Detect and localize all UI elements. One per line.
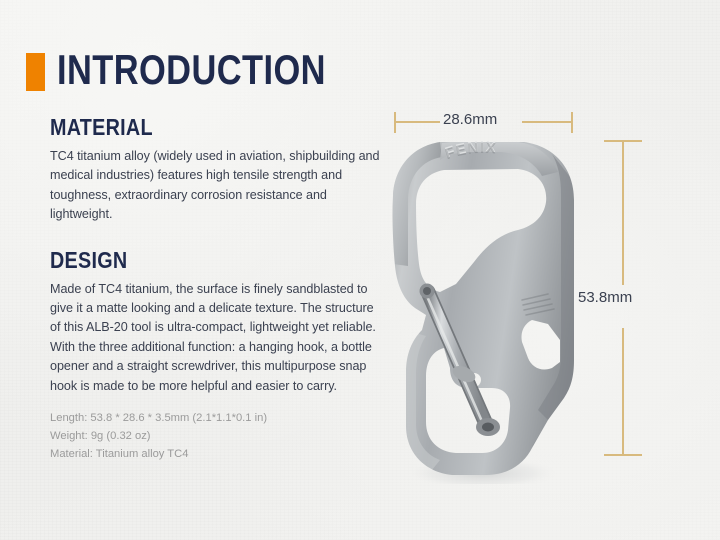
dim-line-right-lower bbox=[622, 328, 624, 456]
section-heading-material: MATERIAL bbox=[50, 112, 334, 142]
section-body-design: Made of TC4 titanium, the surface is fin… bbox=[50, 280, 380, 396]
dim-line-top-left bbox=[394, 121, 440, 123]
spec-length: Length: 53.8 * 28.6 * 3.5mm (2.1*1.1*0.1… bbox=[50, 409, 380, 427]
spec-weight: Weight: 9g (0.32 oz) bbox=[50, 427, 380, 445]
section-heading-design: DESIGN bbox=[50, 245, 334, 275]
dimension-label-width: 28.6mm bbox=[443, 110, 497, 130]
dim-line-top-right bbox=[522, 121, 573, 123]
orange-accent-bar bbox=[26, 53, 45, 91]
spec-material: Material: Titanium alloy TC4 bbox=[50, 445, 380, 463]
product-image-carabiner: FENIX FENIX bbox=[382, 134, 592, 484]
dim-line-right-upper bbox=[622, 140, 624, 285]
material-section: MATERIAL TC4 titanium alloy (widely used… bbox=[50, 112, 380, 225]
content-column: MATERIAL TC4 titanium alloy (widely used… bbox=[50, 112, 380, 396]
page-title: INTRODUCTION bbox=[57, 44, 326, 96]
specifications-block: Length: 53.8 * 28.6 * 3.5mm (2.1*1.1*0.1… bbox=[50, 409, 380, 463]
section-body-material: TC4 titanium alloy (widely used in aviat… bbox=[50, 147, 380, 225]
design-section: DESIGN Made of TC4 titanium, the surface… bbox=[50, 245, 380, 396]
